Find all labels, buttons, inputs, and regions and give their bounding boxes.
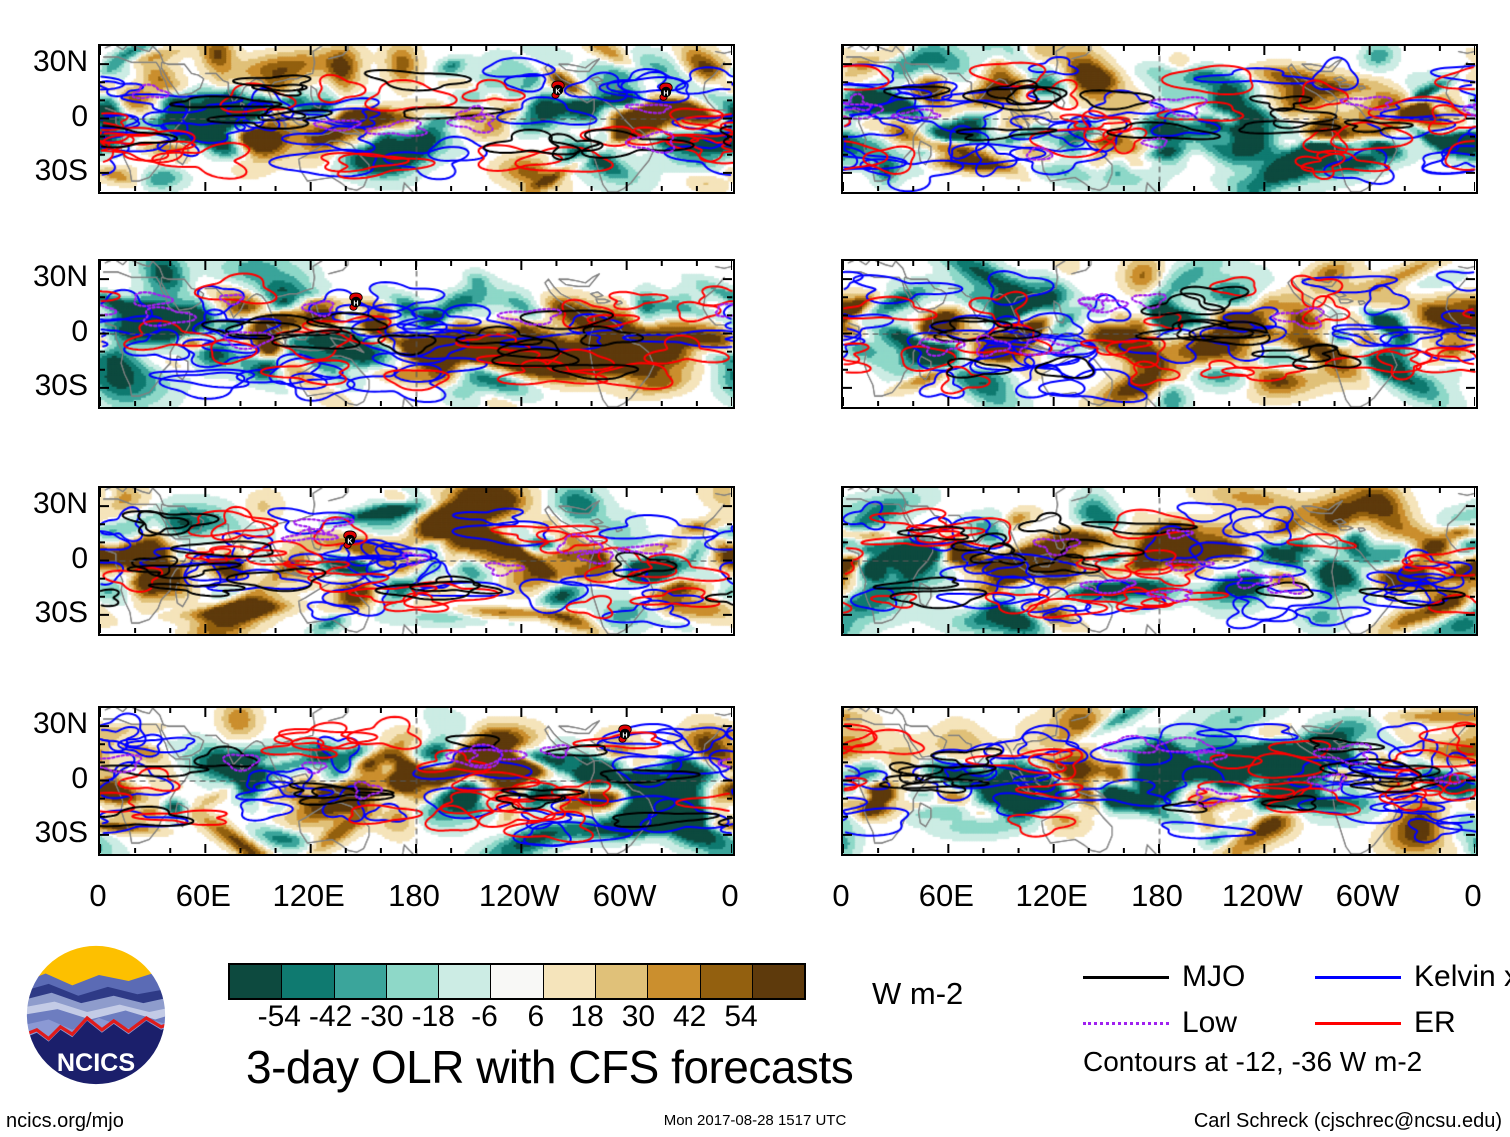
colorbar-segment: [491, 965, 543, 998]
map-plot-area: [841, 44, 1478, 194]
colorbar-segment: [544, 965, 596, 998]
olr-anomaly-map: [100, 46, 733, 192]
colorbar-tick-label: 54: [724, 1002, 757, 1032]
x-axis-tick-label: 120W: [1222, 880, 1303, 911]
legend-entry: ER: [1315, 1008, 1456, 1038]
olr-anomaly-map: [843, 708, 1476, 854]
y-axis-tick-label: 30S: [2, 371, 88, 401]
svg-text:K: K: [347, 536, 353, 545]
svg-text:H: H: [622, 730, 627, 739]
y-axis-tick-label: 30S: [2, 156, 88, 186]
legend-entry: Low: [1083, 1008, 1237, 1038]
svg-text:H: H: [663, 89, 668, 98]
colorbar-tick-label: 18: [570, 1002, 603, 1032]
colorbar-tick-label: -30: [360, 1002, 403, 1032]
colorbar-segment: [596, 965, 648, 998]
colorbar-segment: [335, 965, 387, 998]
colorbar-segment: [648, 965, 700, 998]
legend-line-swatch: [1083, 1022, 1169, 1025]
colorbar-tick-label: -6: [471, 1002, 498, 1032]
storm-marker: K: [341, 530, 359, 550]
legend-entry: Kelvin x2: [1315, 962, 1510, 992]
y-axis-tick-label: 30N: [2, 709, 88, 739]
contour-level-note: Contours at -12, -36 W m-2: [1083, 1048, 1422, 1076]
legend-entry: MJO: [1083, 962, 1245, 992]
footer-timestamp: Mon 2017-08-28 1517 UTC: [664, 1111, 847, 1131]
colorbar-tick-labels: -54-42-30-18-6618304254: [228, 1002, 804, 1036]
footer-website: ncics.org/mjo: [6, 1111, 124, 1131]
olr-anomaly-map: [100, 488, 733, 634]
map-plot-area: K: [98, 486, 735, 636]
x-axis-tick-label: 60E: [919, 880, 974, 911]
x-axis-tick-label: 60W: [593, 880, 657, 911]
olr-anomaly-map: [843, 46, 1476, 192]
legend-label: MJO: [1182, 962, 1245, 992]
page-title: 3-day OLR with CFS forecasts: [246, 1044, 853, 1090]
colorbar-segment: [701, 965, 753, 998]
legend-label: Low: [1182, 1008, 1237, 1038]
colorbar-tick-label: 6: [527, 1002, 544, 1032]
storm-marker: H: [616, 724, 634, 744]
olr-anomaly-map: [100, 708, 733, 854]
y-axis-tick-label: 30N: [2, 47, 88, 77]
x-axis-tick-label: 120E: [272, 880, 344, 911]
olr-anomaly-map: [843, 488, 1476, 634]
x-axis-tick-label: 180: [388, 880, 440, 911]
y-axis-tick-label: 0: [2, 317, 88, 347]
olr-anomaly-map: [843, 261, 1476, 407]
colorbar-swatches: [228, 963, 806, 1000]
storm-marker: K: [549, 80, 567, 100]
logo-text: NCICS: [57, 1049, 135, 1077]
legend-label: ER: [1414, 1008, 1456, 1038]
colorbar: -54-42-30-18-6618304254: [228, 963, 806, 1036]
legend-line-swatch: [1315, 1022, 1401, 1025]
colorbar-segment: [439, 965, 491, 998]
svg-text:H: H: [353, 298, 358, 307]
x-axis-tick-label: 120W: [479, 880, 560, 911]
y-axis-tick-label: 30N: [2, 262, 88, 292]
map-plot-area: H: [98, 706, 735, 856]
y-axis-tick-label: 0: [2, 544, 88, 574]
y-axis-tick-label: 0: [2, 102, 88, 132]
x-axis-tick-label: 0: [89, 880, 106, 911]
x-axis-tick-label: 180: [1131, 880, 1183, 911]
map-plot-area: [841, 706, 1478, 856]
colorbar-tick-label: 42: [673, 1002, 706, 1032]
svg-text:K: K: [556, 86, 562, 95]
legend-line-swatch: [1315, 976, 1401, 979]
colorbar-tick-label: -42: [309, 1002, 352, 1032]
legend-label: Kelvin x2: [1414, 962, 1510, 992]
map-plot-area: H: [98, 259, 735, 409]
x-axis-labels-left-column: 060E120E180120W60W0: [98, 880, 735, 914]
y-axis-tick-label: 30S: [2, 598, 88, 628]
storm-marker: H: [347, 292, 365, 312]
olr-anomaly-map: [100, 261, 733, 407]
colorbar-tick-label: -54: [258, 1002, 301, 1032]
map-plot-area: K H: [98, 44, 735, 194]
map-plot-area: [841, 486, 1478, 636]
y-axis-tick-label: 30N: [2, 489, 88, 519]
colorbar-segment: [230, 965, 282, 998]
x-axis-tick-label: 0: [1464, 880, 1481, 911]
y-axis-tick-label: 0: [2, 764, 88, 794]
x-axis-tick-label: 120E: [1015, 880, 1087, 911]
colorbar-units-label: W m-2: [872, 978, 963, 1009]
map-plot-area: [841, 259, 1478, 409]
y-axis-tick-label: 30S: [2, 818, 88, 848]
colorbar-segment: [282, 965, 334, 998]
x-axis-labels-right-column: 060E120E180120W60W0: [841, 880, 1478, 914]
x-axis-tick-label: 60E: [176, 880, 231, 911]
legend-line-swatch: [1083, 976, 1169, 979]
colorbar-tick-label: 30: [622, 1002, 655, 1032]
x-axis-tick-label: 0: [721, 880, 738, 911]
ncics-logo: NCICS: [22, 941, 170, 1089]
storm-marker: H: [657, 82, 675, 102]
footer-author: Carl Schreck (cjschrec@ncsu.edu): [1194, 1111, 1502, 1131]
x-axis-tick-label: 0: [832, 880, 849, 911]
x-axis-tick-label: 60W: [1336, 880, 1400, 911]
colorbar-segment: [387, 965, 439, 998]
colorbar-tick-label: -18: [412, 1002, 455, 1032]
colorbar-segment: [753, 965, 804, 998]
